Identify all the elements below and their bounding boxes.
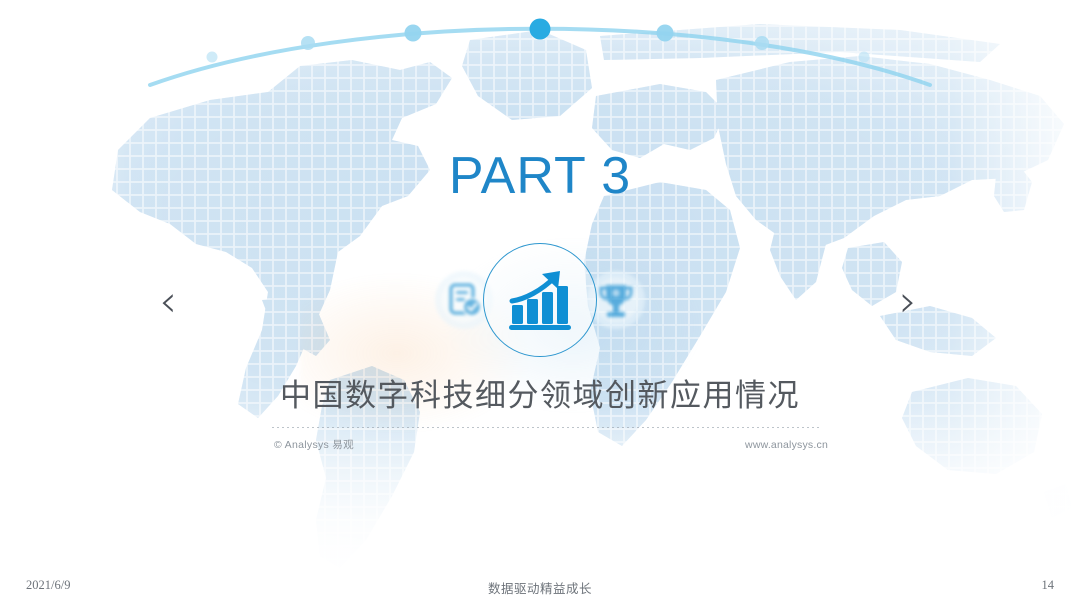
arc-dot-active[interactable] <box>530 19 551 40</box>
arc-dot[interactable] <box>657 25 674 42</box>
bar-chart-growth-icon <box>483 243 597 357</box>
progress-arc <box>0 460 1080 550</box>
arc-dot[interactable] <box>859 52 870 63</box>
arc-dot[interactable] <box>405 25 422 42</box>
section-title: 中国数字科技细分领域创新应用情况 <box>0 370 1080 415</box>
part-label: PART 3 <box>0 146 1080 206</box>
section-icon-row <box>0 238 1080 362</box>
website-url[interactable]: www.analysys.cn <box>745 439 828 451</box>
presentation-slide: ‹ › PART 3 <box>0 0 1080 608</box>
copyright-text: © Analysys 易观 <box>274 437 354 452</box>
footer-tagline: 数据驱动精益成长 <box>0 578 1080 597</box>
dotted-divider <box>272 427 820 428</box>
arc-dot[interactable] <box>301 36 315 50</box>
arc-dot[interactable] <box>755 36 769 50</box>
footer-page-number: 14 <box>1042 578 1055 593</box>
arc-dot-group <box>207 19 870 63</box>
arc-dot[interactable] <box>207 52 218 63</box>
